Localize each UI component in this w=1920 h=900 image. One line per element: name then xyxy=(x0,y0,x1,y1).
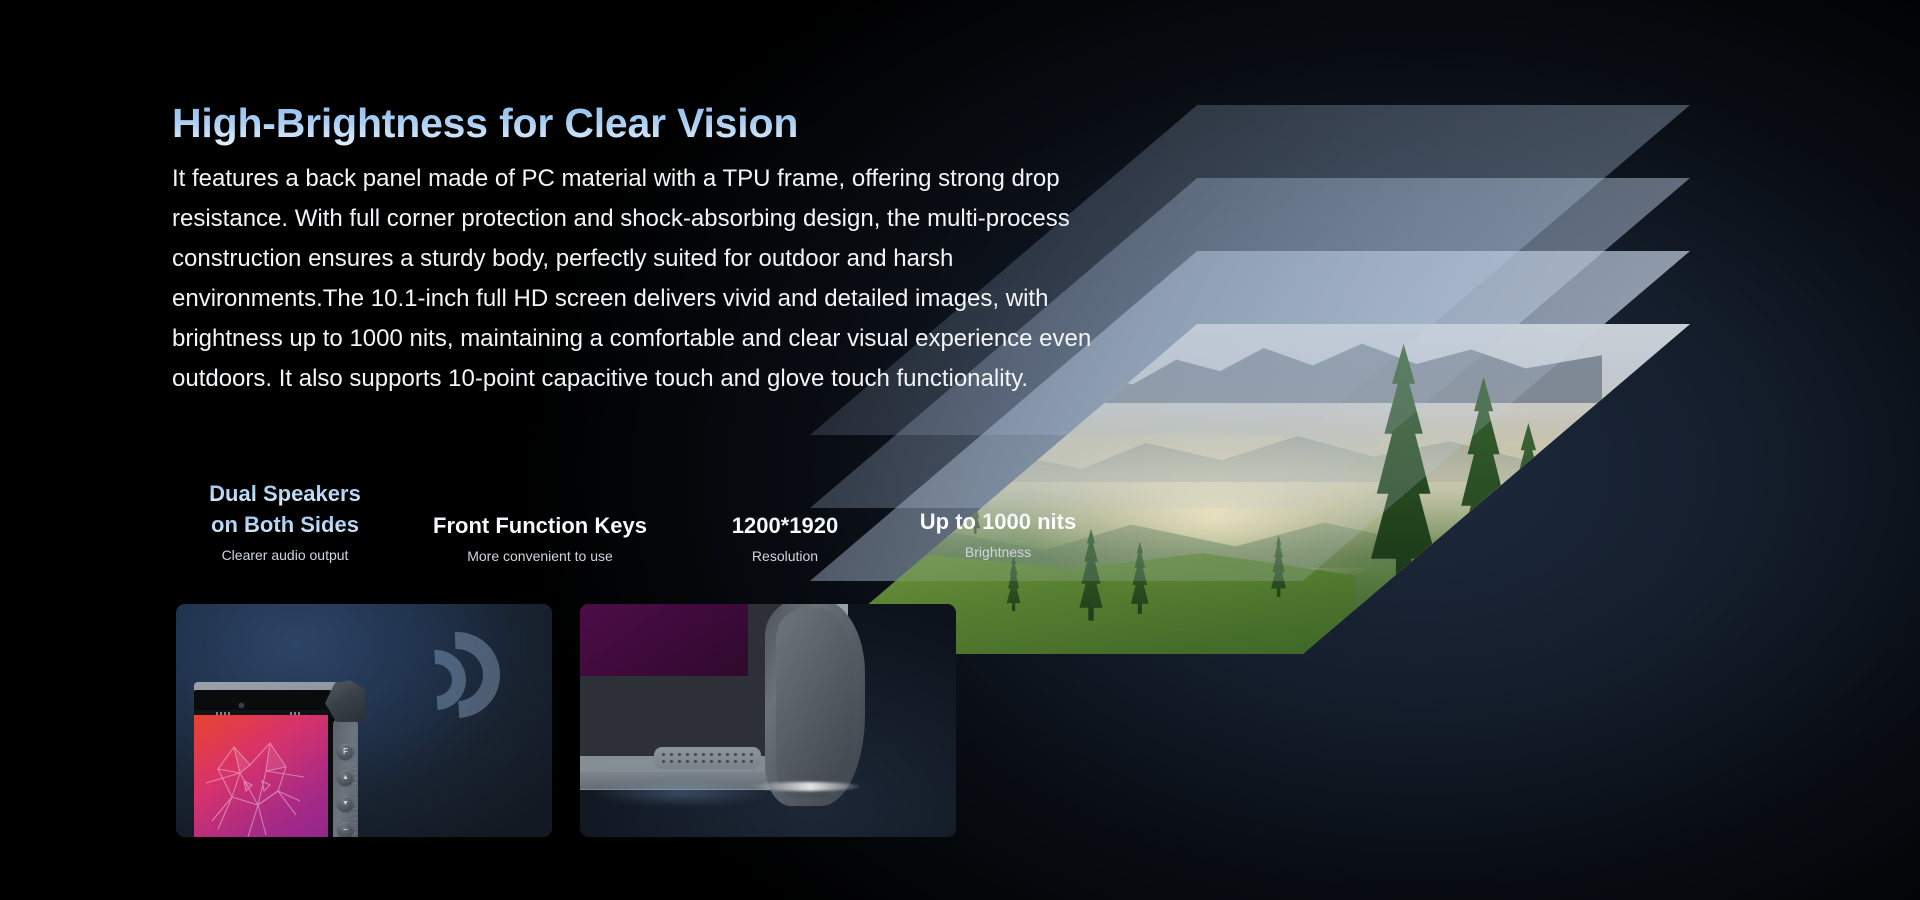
bottom-glow xyxy=(592,780,772,806)
page-title: High-Brightness for Clear Vision xyxy=(172,100,1172,147)
speaker-grille-icon xyxy=(654,747,761,769)
screen-purple-area xyxy=(580,604,748,676)
feature-title-line2: on Both Sides xyxy=(165,509,405,540)
feature-title-line1: Front Function Keys xyxy=(415,510,665,541)
feature-subtitle: Brightness xyxy=(893,544,1103,560)
minus-key[interactable]: − xyxy=(338,822,353,837)
text-column: High-Brightness for Clear Vision It feat… xyxy=(172,100,1172,399)
volume-down-key[interactable]: ▼ xyxy=(338,796,353,811)
ubuntu-wallpaper-screen xyxy=(194,715,328,837)
product-feature-banner: High-Brightness for Clear Vision It feat… xyxy=(0,0,1920,900)
feature-title-line1: Up to 1000 nits xyxy=(893,506,1103,537)
tablet-bezel xyxy=(194,690,335,837)
tpu-corner-bumper-inner xyxy=(776,608,854,798)
feature-subtitle: Clearer audio output xyxy=(165,547,405,563)
tablet-side-rail: F ▲ ▼ − ⏻ xyxy=(333,718,358,837)
grip-texture xyxy=(353,758,357,837)
feature-title-line1: 1200*1920 xyxy=(695,510,875,541)
feature-brightness: Up to 1000 nits Brightness xyxy=(893,506,1103,560)
product-card-speaker-grille xyxy=(580,604,956,837)
front-camera-icon xyxy=(239,703,244,708)
feature-dual-speakers: Dual Speakers on Both Sides Clearer audi… xyxy=(165,478,405,563)
feature-subtitle: Resolution xyxy=(695,548,875,564)
function-key[interactable]: F xyxy=(338,744,353,759)
feature-front-function-keys: Front Function Keys More convenient to u… xyxy=(415,510,665,564)
volume-up-key[interactable]: ▲ xyxy=(338,770,353,785)
feature-title-line1: Dual Speakers xyxy=(165,478,405,509)
ubuntu-lynx-artwork xyxy=(200,725,320,837)
feature-highlights: Dual Speakers on Both Sides Clearer audi… xyxy=(165,478,1065,578)
body-paragraph: It features a back panel made of PC mate… xyxy=(172,159,1147,399)
feature-resolution: 1200*1920 Resolution xyxy=(695,510,875,564)
product-card-ubuntu-tablet: F ▲ ▼ − ⏻ xyxy=(176,604,552,837)
feature-subtitle: More convenient to use xyxy=(415,548,665,564)
rugged-tablet-illustration: F ▲ ▼ − ⏻ xyxy=(194,682,364,837)
